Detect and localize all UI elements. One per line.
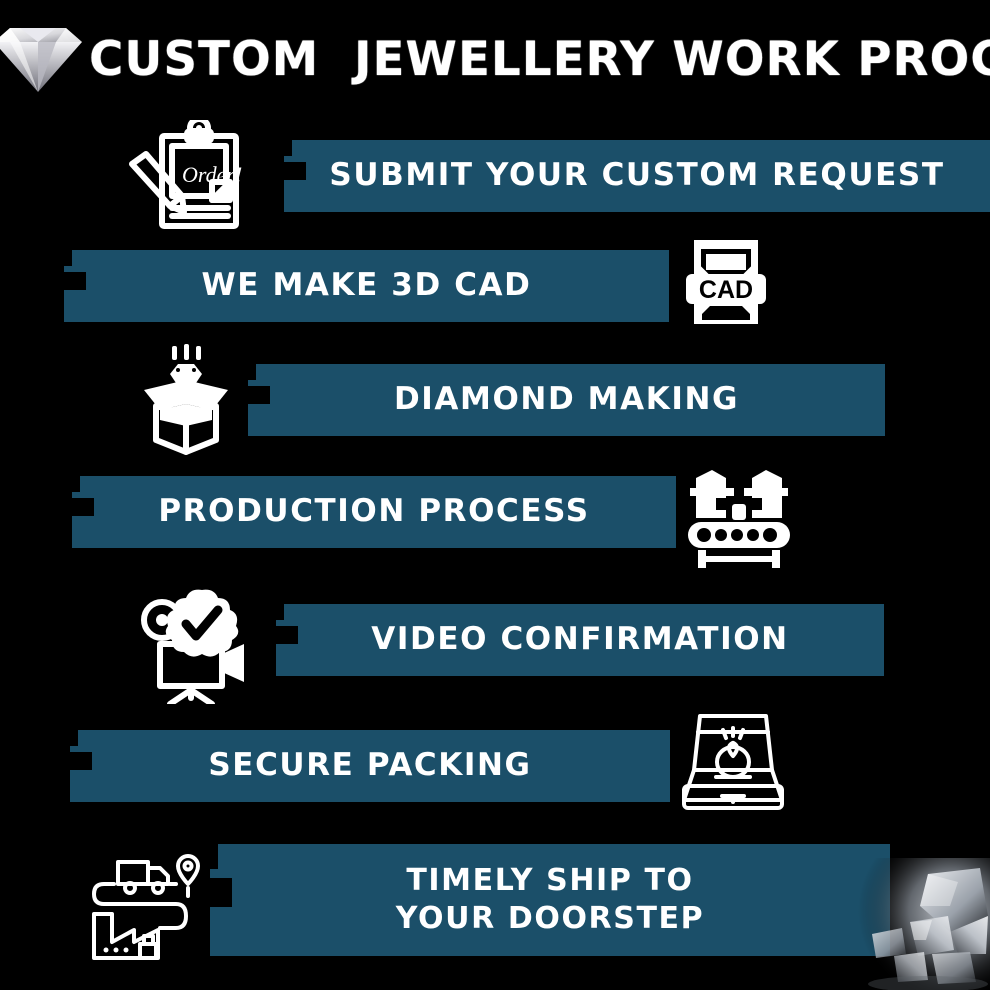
process-step-5: VIDEO CONFIRMATION <box>0 588 990 708</box>
movie-camera-check-icon <box>140 586 264 704</box>
page-header: CUSTOM JEWELLERY WORK PROCESS <box>0 22 990 96</box>
process-step-7: TIMELY SHIP TO YOUR DOORSTEP <box>0 840 990 970</box>
cad-document-printer-icon: CAD <box>676 232 776 332</box>
step-3-label: DIAMOND MAKING <box>394 380 739 420</box>
conveyor-robot-arms-icon <box>682 464 796 568</box>
step-7-label: TIMELY SHIP TO YOUR DOORSTEP <box>396 862 704 939</box>
step-7-banner[interactable]: TIMELY SHIP TO YOUR DOORSTEP <box>210 844 890 956</box>
process-step-2: WE MAKE 3D CAD CAD <box>0 238 990 338</box>
process-step-4: PRODUCTION PROCESS <box>0 466 990 572</box>
page-title: CUSTOM JEWELLERY WORK PROCESS <box>89 36 990 83</box>
step-6-banner[interactable]: SECURE PACKING <box>70 730 670 802</box>
step-2-label: WE MAKE 3D CAD <box>202 266 532 306</box>
custom-jewellery-process-poster: CUSTOM JEWELLERY WORK PROCESS Order! <box>0 0 990 990</box>
process-step-3: DIAMOND MAKING <box>0 340 990 460</box>
step-4-banner[interactable]: PRODUCTION PROCESS <box>72 476 676 548</box>
step-2-banner[interactable]: WE MAKE 3D CAD <box>64 250 669 322</box>
step-4-label: PRODUCTION PROCESS <box>158 492 589 532</box>
factory-truck-route-icon <box>84 846 214 966</box>
step-5-banner[interactable]: VIDEO CONFIRMATION <box>276 604 884 676</box>
process-step-6: SECURE PACKING <box>0 714 990 818</box>
svg-text:CAD: CAD <box>699 276 753 304</box>
step-5-label: VIDEO CONFIRMATION <box>371 620 788 660</box>
open-box-diamond-icon <box>128 340 244 458</box>
step-6-label: SECURE PACKING <box>208 746 531 786</box>
process-step-1: Order! SUBMIT YOUR CUSTOM REQUEST <box>0 118 990 230</box>
step-1-label: SUBMIT YOUR CUSTOM REQUEST <box>329 156 944 196</box>
ring-gift-box-icon <box>676 708 790 812</box>
step-3-banner[interactable]: DIAMOND MAKING <box>248 364 885 436</box>
clipboard-order-pencil-icon: Order! <box>124 120 250 230</box>
step-1-banner[interactable]: SUBMIT YOUR CUSTOM REQUEST <box>284 140 990 212</box>
